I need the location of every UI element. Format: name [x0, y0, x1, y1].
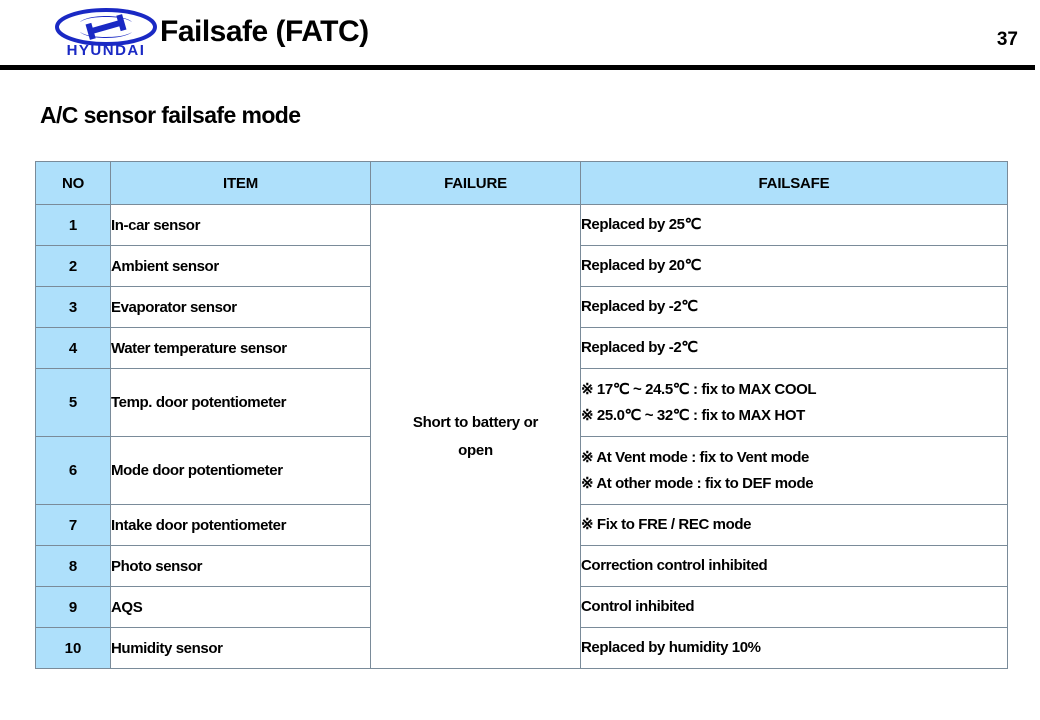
- failsafe-line: ※ At other mode : fix to DEF mode: [581, 471, 1007, 497]
- header-divider: [0, 65, 1035, 70]
- cell-item: Water temperature sensor: [111, 328, 371, 369]
- cell-failure-merged: Short to battery oropen: [371, 205, 581, 669]
- cell-no: 7: [36, 505, 111, 546]
- failure-line-2: open: [371, 437, 580, 465]
- failsafe-line: ※ 17℃ ~ 24.5℃ : fix to MAX COOL: [581, 377, 1007, 403]
- failsafe-line: Control inhibited: [581, 594, 1007, 620]
- failsafe-line: Replaced by 25℃: [581, 212, 1007, 238]
- failsafe-line: Correction control inhibited: [581, 553, 1007, 579]
- cell-failsafe: Replaced by -2℃: [581, 328, 1008, 369]
- cell-item: AQS: [111, 587, 371, 628]
- cell-no: 9: [36, 587, 111, 628]
- page-title: Failsafe (FATC): [160, 12, 369, 52]
- cell-failsafe: ※ Fix to FRE / REC mode: [581, 505, 1008, 546]
- cell-failsafe: Replaced by humidity 10%: [581, 628, 1008, 669]
- cell-no: 1: [36, 205, 111, 246]
- cell-no: 6: [36, 437, 111, 505]
- cell-failsafe: Control inhibited: [581, 587, 1008, 628]
- section-heading: A/C sensor failsafe mode: [40, 100, 300, 130]
- cell-no: 8: [36, 546, 111, 587]
- cell-item: Evaporator sensor: [111, 287, 371, 328]
- failsafe-line: ※ Fix to FRE / REC mode: [581, 512, 1007, 538]
- cell-item: In-car sensor: [111, 205, 371, 246]
- cell-failsafe: ※ At Vent mode : fix to Vent mode※ At ot…: [581, 437, 1008, 505]
- cell-failsafe: Replaced by 20℃: [581, 246, 1008, 287]
- page-number: 37: [997, 28, 1018, 52]
- failsafe-line: Replaced by 20℃: [581, 253, 1007, 279]
- cell-item: Ambient sensor: [111, 246, 371, 287]
- cell-failsafe: Correction control inhibited: [581, 546, 1008, 587]
- cell-no: 3: [36, 287, 111, 328]
- column-header-no: NO: [36, 162, 111, 205]
- cell-failsafe: Replaced by 25℃: [581, 205, 1008, 246]
- failsafe-line: Replaced by humidity 10%: [581, 635, 1007, 661]
- cell-item: Humidity sensor: [111, 628, 371, 669]
- cell-item: Intake door potentiometer: [111, 505, 371, 546]
- cell-no: 2: [36, 246, 111, 287]
- table-body: 1In-car sensorShort to battery oropenRep…: [36, 205, 1008, 669]
- table-header-row: NO ITEM FAILURE FAILSAFE: [36, 162, 1008, 205]
- cell-item: Temp. door potentiometer: [111, 369, 371, 437]
- hyundai-logo-svg: HYUNDAI: [50, 8, 162, 58]
- column-header-item: ITEM: [111, 162, 371, 205]
- table-row: 1In-car sensorShort to battery oropenRep…: [36, 205, 1008, 246]
- failsafe-line: Replaced by -2℃: [581, 335, 1007, 361]
- hyundai-logo: HYUNDAI: [50, 8, 162, 58]
- failsafe-line: Replaced by -2℃: [581, 294, 1007, 320]
- cell-item: Photo sensor: [111, 546, 371, 587]
- cell-no: 10: [36, 628, 111, 669]
- column-header-failsafe: FAILSAFE: [581, 162, 1008, 205]
- cell-no: 4: [36, 328, 111, 369]
- failsafe-line: ※ 25.0℃ ~ 32℃ : fix to MAX HOT: [581, 403, 1007, 429]
- failsafe-line: ※ At Vent mode : fix to Vent mode: [581, 445, 1007, 471]
- table-header: NO ITEM FAILURE FAILSAFE: [36, 162, 1008, 205]
- failure-line-1: Short to battery or: [371, 409, 580, 437]
- cell-failsafe: Replaced by -2℃: [581, 287, 1008, 328]
- column-header-failure: FAILURE: [371, 162, 581, 205]
- cell-no: 5: [36, 369, 111, 437]
- failsafe-table: NO ITEM FAILURE FAILSAFE 1In-car sensorS…: [35, 161, 1008, 669]
- svg-text:HYUNDAI: HYUNDAI: [67, 42, 146, 58]
- page-header: HYUNDAI Failsafe (FATC) 37: [0, 0, 1040, 67]
- cell-failsafe: ※ 17℃ ~ 24.5℃ : fix to MAX COOL※ 25.0℃ ~…: [581, 369, 1008, 437]
- cell-item: Mode door potentiometer: [111, 437, 371, 505]
